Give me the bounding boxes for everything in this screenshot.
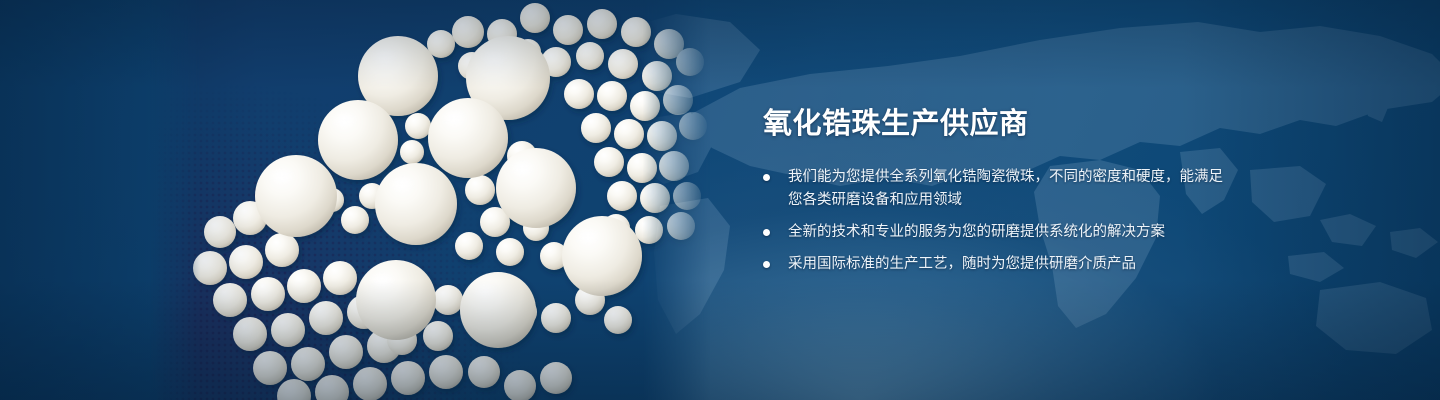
feature-list: 我们能为您提供全系列氧化锆陶瓷微珠，不同的密度和硬度，能满足您各类研磨设备和应用… [763,166,1233,276]
list-item-label: 采用国际标准的生产工艺，随时为您提供研磨介质产品 [788,256,1136,272]
list-item: 我们能为您提供全系列氧化锆陶瓷微珠，不同的密度和硬度，能满足您各类研磨设备和应用… [763,166,1233,212]
page-title: 氧化锆珠生产供应商 [763,104,1233,144]
list-item-label: 全新的技术和专业的服务为您的研磨提供系统化的解决方案 [788,224,1165,240]
hero-banner: 氧化锆珠生产供应商 我们能为您提供全系列氧化锆陶瓷微珠，不同的密度和硬度，能满足… [0,0,1440,400]
banner-copy: 氧化锆珠生产供应商 我们能为您提供全系列氧化锆陶瓷微珠，不同的密度和硬度，能满足… [763,104,1233,276]
list-item: 全新的技术和专业的服务为您的研磨提供系统化的解决方案 [763,221,1233,244]
bullet-dot-icon [763,261,770,268]
bullet-dot-icon [763,174,770,181]
bullet-dot-icon [763,229,770,236]
list-item-label: 我们能为您提供全系列氧化锆陶瓷微珠，不同的密度和硬度，能满足您各类研磨设备和应用… [788,169,1223,208]
list-item: 采用国际标准的生产工艺，随时为您提供研磨介质产品 [763,253,1233,276]
